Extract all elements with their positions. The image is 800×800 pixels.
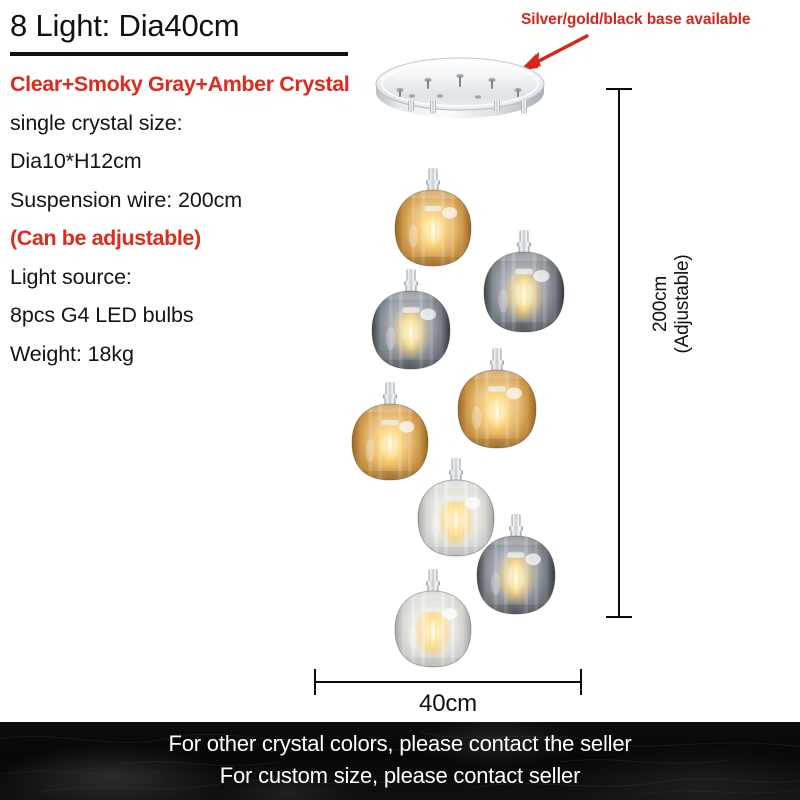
specular-highlight	[465, 497, 480, 508]
dimension-cap-bottom	[606, 616, 632, 618]
specular-highlight	[442, 207, 457, 218]
height-note: (Adjustable)	[672, 234, 694, 374]
crystal-glass	[458, 370, 536, 448]
bulb-base	[507, 552, 524, 557]
specular-highlight	[420, 309, 436, 321]
crystal-glass	[484, 252, 564, 332]
crystal-facets	[402, 591, 465, 667]
height-dimension-label: 200cm (Adjustable)	[650, 234, 694, 374]
bulb-glow	[478, 383, 517, 439]
canopy-fittings	[396, 74, 521, 99]
crystal-facets	[465, 370, 529, 448]
chrome-socket	[517, 230, 531, 254]
product-spec-image: 8 Light: Dia40cm Clear+Smoky Gray+Amber …	[0, 0, 800, 800]
crystal-facets	[379, 291, 443, 369]
crystal-glass	[395, 591, 471, 667]
pendant-clear	[395, 569, 471, 667]
g4-bulb	[429, 613, 437, 649]
spec-line: Light source:	[10, 258, 370, 297]
height-dimension-line	[606, 88, 632, 618]
crystal-glass	[395, 190, 471, 266]
pendant-clear	[418, 458, 494, 556]
spec-line: Suspension wire: 200cm	[10, 181, 370, 220]
crystal-facets	[402, 190, 465, 266]
crystal-glass	[477, 536, 555, 614]
bulb-base	[515, 269, 533, 275]
bulb-glow	[392, 304, 431, 360]
height-value: 200cm	[650, 276, 671, 332]
dimension-stem-horizontal	[314, 681, 582, 683]
g4-bulb	[512, 559, 521, 596]
bulb-glow	[504, 266, 544, 324]
crystal-facets	[491, 252, 557, 332]
g4-bulb	[520, 275, 529, 313]
bulb-glow	[414, 203, 452, 258]
spec-line-list: Clear+Smoky Gray+Amber Crystalsingle cry…	[10, 65, 370, 373]
bulb-glow	[371, 417, 409, 472]
specification-panel: 8 Light: Dia40cm Clear+Smoky Gray+Amber …	[10, 6, 370, 373]
chrome-socket	[426, 168, 440, 192]
pendant-amber	[458, 348, 536, 448]
crystal-facets	[425, 480, 488, 556]
chrome-socket	[509, 514, 523, 538]
page-title: 8 Light: Dia40cm	[10, 6, 370, 46]
pendant-group	[352, 168, 564, 667]
pendant-smoky	[484, 230, 564, 332]
spec-line: single crystal size:	[10, 104, 370, 143]
canopy-screw-stems	[399, 76, 519, 97]
chrome-socket	[383, 382, 397, 406]
spec-line: Clear+Smoky Gray+Amber Crystal	[10, 65, 370, 104]
bulb-base	[425, 607, 442, 612]
bulb-base	[382, 420, 399, 425]
crystal-glass	[372, 291, 450, 369]
suspension-wires	[390, 104, 524, 591]
chrome-socket	[404, 269, 418, 293]
pendant-amber	[352, 382, 428, 480]
specular-highlight	[534, 270, 550, 282]
specular-highlight	[442, 608, 457, 619]
bulb-base	[425, 206, 442, 211]
g4-bulb	[493, 393, 502, 430]
pendant-smoky	[372, 269, 450, 369]
g4-bulb	[386, 426, 394, 462]
bulb-glow	[437, 493, 475, 548]
pendant-amber	[395, 168, 471, 266]
arrow-down-left-icon	[505, 28, 605, 80]
contact-banner: For other crystal colors, please contact…	[0, 722, 800, 800]
dimension-stem-vertical	[618, 88, 620, 618]
specular-highlight	[506, 388, 522, 400]
bulb-base	[448, 496, 465, 501]
chrome-socket	[490, 348, 504, 372]
g4-bulb	[429, 212, 437, 248]
bulb-base	[488, 386, 505, 391]
specular-highlight	[525, 554, 541, 566]
chrome-socket	[449, 458, 463, 482]
bulb-base	[402, 307, 419, 312]
crystal-facets	[359, 404, 422, 480]
title-divider	[10, 52, 348, 56]
canopy-wire-collars	[408, 100, 527, 114]
spec-line: (Can be adjustable)	[10, 219, 370, 258]
g4-bulb	[452, 502, 460, 538]
crystal-glass	[418, 480, 494, 556]
spec-line: 8pcs G4 LED bulbs	[10, 296, 370, 335]
g4-bulb	[407, 314, 416, 351]
banner-line-1: For other crystal colors, please contact…	[0, 731, 800, 757]
spec-line: Dia10*H12cm	[10, 142, 370, 181]
chrome-socket	[426, 569, 440, 593]
pendant-smoky	[477, 514, 555, 614]
banner-line-2: For custom size, please contact seller	[0, 763, 800, 789]
specular-highlight	[399, 421, 414, 432]
width-dimension-label: 40cm	[314, 690, 582, 718]
crystal-facets	[484, 536, 548, 614]
base-color-callout-label: Silver/gold/black base available	[521, 11, 750, 29]
bulb-glow	[414, 604, 452, 659]
spec-line: Weight: 18kg	[10, 335, 370, 374]
crystal-glass	[352, 404, 428, 480]
bulb-glow	[497, 549, 536, 605]
